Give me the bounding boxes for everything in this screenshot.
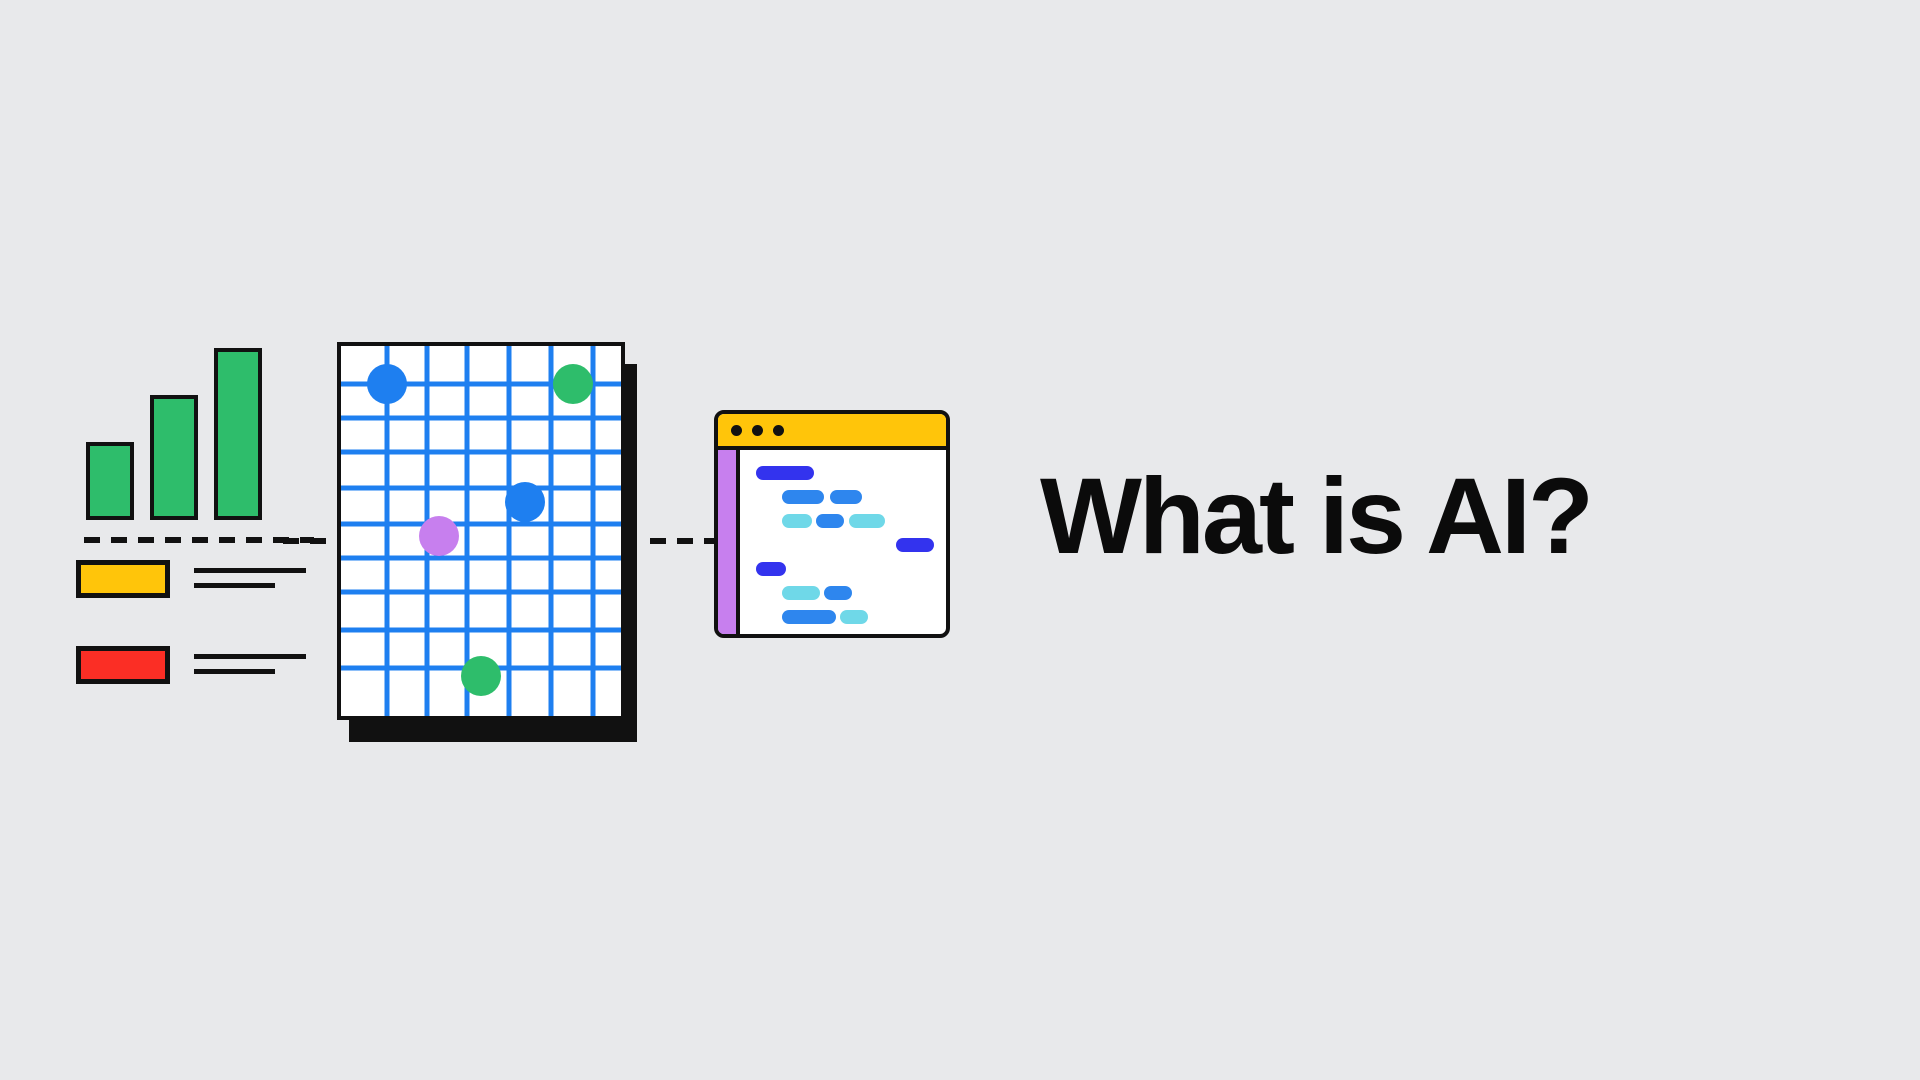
legend-text-line xyxy=(194,669,275,674)
bar-chart xyxy=(78,340,288,520)
code-token xyxy=(816,514,844,528)
scatter-grid-sheet xyxy=(337,342,637,742)
legend-text-line xyxy=(194,654,306,659)
bar-chart-bar-1 xyxy=(86,442,134,520)
code-window-titlebar xyxy=(718,414,946,450)
legend-text-lines-red xyxy=(194,654,306,684)
code-token xyxy=(756,562,786,576)
code-window-frame xyxy=(714,410,950,638)
illustration-canvas: What is AI? xyxy=(0,0,1920,1080)
code-line xyxy=(744,562,946,576)
code-token xyxy=(840,610,868,624)
code-line xyxy=(744,514,946,528)
point-green-1 xyxy=(553,364,593,404)
connector-grid-to-code xyxy=(650,531,716,537)
connector-bars-to-grid xyxy=(283,531,337,537)
code-token xyxy=(824,586,852,600)
code-token xyxy=(782,610,836,624)
point-purple-1 xyxy=(419,516,459,556)
code-line xyxy=(744,466,946,480)
point-green-2 xyxy=(461,656,501,696)
code-token xyxy=(896,538,934,552)
code-token xyxy=(756,466,814,480)
bar-chart-bar-2 xyxy=(150,395,198,520)
legend xyxy=(76,560,306,732)
code-line xyxy=(744,538,946,552)
chart-divider-dashed-line xyxy=(84,530,314,536)
code-line xyxy=(744,490,946,504)
code-line xyxy=(744,586,946,600)
bar-chart-bar-3 xyxy=(214,348,262,520)
window-close-dot-icon[interactable] xyxy=(731,425,742,436)
legend-text-lines-yellow xyxy=(194,568,306,598)
code-line xyxy=(744,610,946,624)
point-blue-2 xyxy=(505,482,545,522)
code-editor-window xyxy=(714,410,954,642)
legend-row-yellow xyxy=(76,560,306,598)
legend-row-red xyxy=(76,646,306,684)
legend-swatch-red xyxy=(76,646,170,684)
code-window-body xyxy=(744,450,946,634)
legend-text-line xyxy=(194,568,306,573)
window-minimize-dot-icon[interactable] xyxy=(752,425,763,436)
page-title: What is AI? xyxy=(1040,462,1740,570)
code-token xyxy=(782,514,812,528)
window-maximize-dot-icon[interactable] xyxy=(773,425,784,436)
code-token xyxy=(782,586,820,600)
legend-text-line xyxy=(194,583,275,588)
code-window-sidebar xyxy=(718,450,740,634)
code-token xyxy=(849,514,885,528)
point-blue-1 xyxy=(367,364,407,404)
grid-sheet-paper xyxy=(337,342,625,720)
code-token xyxy=(830,490,862,504)
scatter-points xyxy=(367,364,593,696)
grid-lines-horizontal xyxy=(341,384,621,668)
code-token xyxy=(782,490,824,504)
legend-swatch-yellow xyxy=(76,560,170,598)
